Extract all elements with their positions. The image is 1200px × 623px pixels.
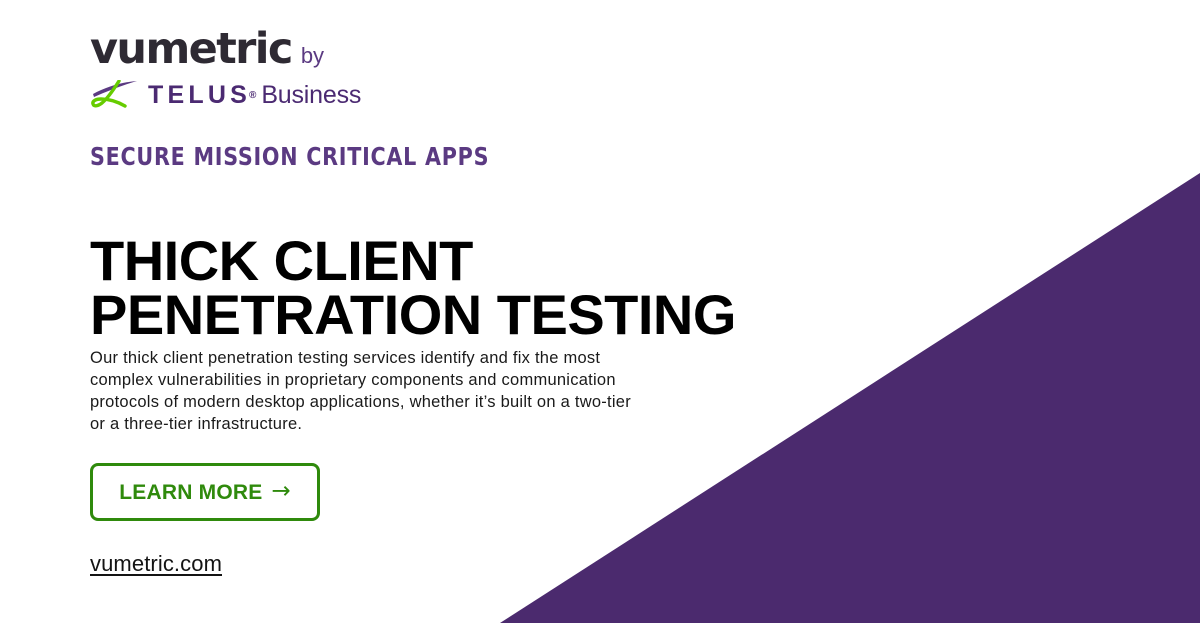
body-line-1: Our thick client penetration testing ser… — [90, 347, 730, 369]
promotional-banner: vumetric by TELUS ® Business SECURE MISS… — [0, 0, 1200, 623]
logo-secondary-row: TELUS ® Business — [90, 80, 361, 110]
logo-primary-row: vumetric by — [90, 28, 361, 74]
body-line-2: complex vulnerabilities in proprietary c… — [90, 369, 730, 391]
registered-trademark-icon: ® — [249, 90, 256, 101]
eyebrow-heading: SECURE MISSION CRITICAL APPS — [90, 142, 489, 171]
learn-more-label: LEARN MORE — [119, 482, 262, 503]
website-link[interactable]: vumetric.com — [90, 551, 222, 577]
arrow-right-icon: → — [271, 480, 290, 503]
body-line-4: or a three-tier infrastructure. — [90, 413, 730, 435]
logo-by-label: by — [301, 45, 324, 67]
headline-line-1: THICK CLIENT — [90, 234, 736, 288]
content-column: vumetric by TELUS ® Business SECURE MISS… — [90, 0, 790, 623]
vumetric-telus-logo[interactable]: vumetric by TELUS ® Business — [90, 28, 361, 110]
body-paragraph: Our thick client penetration testing ser… — [90, 347, 730, 435]
body-line-3: protocols of modern desktop applications… — [90, 391, 730, 413]
business-label: Business — [261, 83, 361, 108]
telus-swoosh-icon — [90, 80, 142, 110]
headline-line-2: PENETRATION TESTING — [90, 288, 736, 342]
page-title: THICK CLIENT PENETRATION TESTING — [90, 234, 736, 342]
telus-wordmark: TELUS — [148, 83, 251, 108]
learn-more-button[interactable]: LEARN MORE → — [90, 463, 320, 521]
vumetric-wordmark: vumetric — [90, 28, 292, 71]
